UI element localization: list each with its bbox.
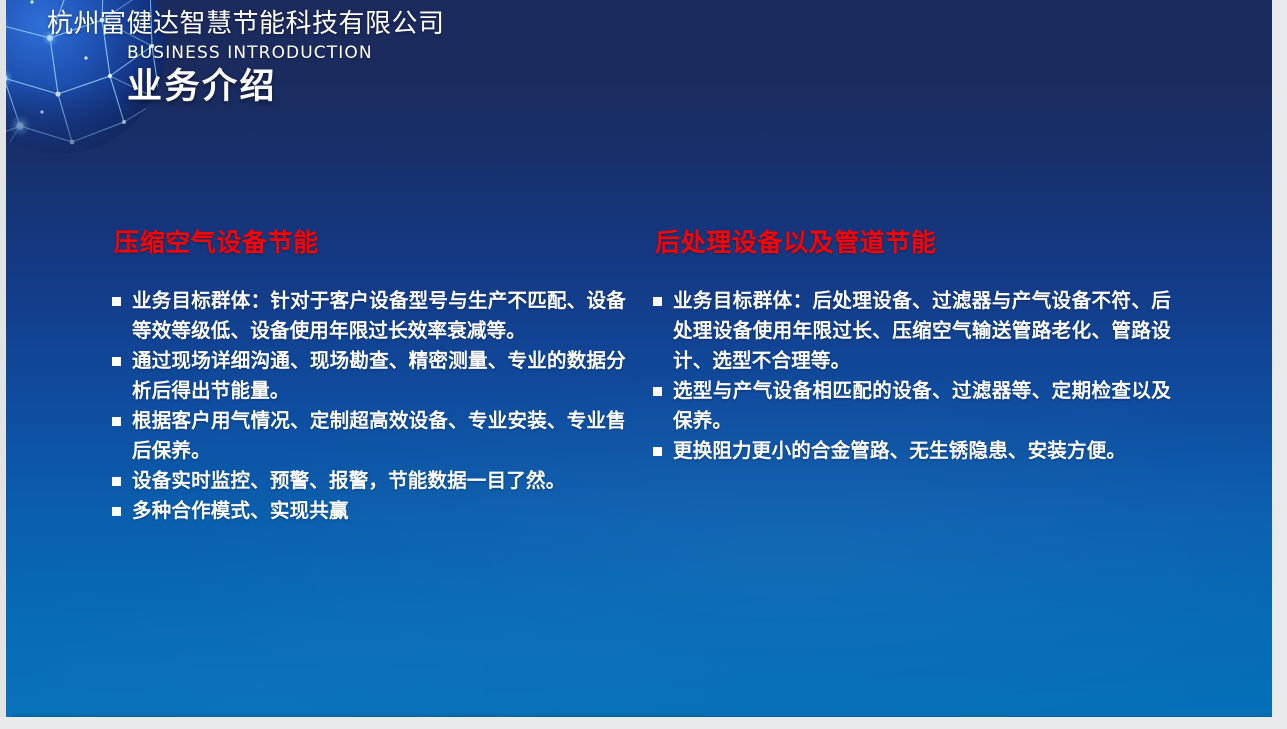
list-item: 通过现场详细沟通、现场勘查、精密测量、专业的数据分析后得出节能量。 (110, 346, 626, 406)
column-title: 压缩空气设备节能 (114, 226, 626, 260)
square-bullet-icon (112, 477, 121, 486)
section-label-group: BUSINESS INTRODUCTION 业务介绍 (127, 42, 445, 109)
list-item-text: 根据客户用气情况、定制超高效设备、专业安装、专业售后保养。 (132, 409, 626, 462)
list-item: 设备实时监控、预警、报警，节能数据一目了然。 (110, 466, 626, 496)
list-item-text: 选型与产气设备相匹配的设备、过滤器等、定期检查以及保养。 (673, 379, 1171, 432)
square-bullet-icon (653, 297, 662, 306)
list-item-text: 业务目标群体：针对于客户设备型号与生产不匹配、设备等效等级低、设备使用年限过长效… (132, 289, 626, 342)
section-label-en: BUSINESS INTRODUCTION (127, 42, 445, 64)
bullet-list: 业务目标群体：针对于客户设备型号与生产不匹配、设备等效等级低、设备使用年限过长效… (110, 286, 626, 526)
column-post-treatment: 后处理设备以及管道节能 业务目标群体：后处理设备、过滤器与产气设备不符、后处理设… (651, 226, 1171, 466)
square-bullet-icon (653, 447, 662, 456)
square-bullet-icon (112, 357, 121, 366)
list-item: 选型与产气设备相匹配的设备、过滤器等、定期检查以及保养。 (651, 376, 1171, 436)
list-item-text: 设备实时监控、预警、报警，节能数据一目了然。 (132, 469, 565, 492)
list-item: 更换阻力更小的合金管路、无生锈隐患、安装方便。 (651, 436, 1171, 466)
slide-canvas: 杭州富健达智慧节能科技有限公司 BUSINESS INTRODUCTION 业务… (6, 0, 1272, 717)
column-compressed-air: 压缩空气设备节能 业务目标群体：针对于客户设备型号与生产不匹配、设备等效等级低、… (110, 226, 626, 526)
square-bullet-icon (112, 297, 121, 306)
square-bullet-icon (112, 417, 121, 426)
list-item-text: 业务目标群体：后处理设备、过滤器与产气设备不符、后处理设备使用年限过长、压缩空气… (673, 289, 1171, 372)
page-margin-left (0, 0, 6, 729)
square-bullet-icon (653, 387, 662, 396)
company-name: 杭州富健达智慧节能科技有限公司 (47, 8, 445, 40)
list-item-text: 更换阻力更小的合金管路、无生锈隐患、安装方便。 (673, 439, 1126, 462)
list-item: 多种合作模式、实现共赢 (110, 496, 626, 526)
page-margin-bottom (0, 717, 1287, 729)
column-title: 后处理设备以及管道节能 (655, 226, 1171, 260)
bullet-list: 业务目标群体：后处理设备、过滤器与产气设备不符、后处理设备使用年限过长、压缩空气… (651, 286, 1171, 466)
list-item-text: 多种合作模式、实现共赢 (132, 499, 349, 522)
slide-root: 杭州富健达智慧节能科技有限公司 BUSINESS INTRODUCTION 业务… (0, 0, 1287, 729)
list-item-text: 通过现场详细沟通、现场勘查、精密测量、专业的数据分析后得出节能量。 (132, 349, 626, 402)
page-margin-right (1272, 0, 1287, 729)
list-item: 业务目标群体：后处理设备、过滤器与产气设备不符、后处理设备使用年限过长、压缩空气… (651, 286, 1171, 376)
section-label-cn: 业务介绍 (127, 65, 445, 109)
slide-header: 杭州富健达智慧节能科技有限公司 BUSINESS INTRODUCTION 业务… (6, 0, 1272, 132)
header-text-group: 杭州富健达智慧节能科技有限公司 BUSINESS INTRODUCTION 业务… (47, 8, 445, 109)
list-item: 根据客户用气情况、定制超高效设备、专业安装、专业售后保养。 (110, 406, 626, 466)
square-bullet-icon (112, 507, 121, 516)
list-item: 业务目标群体：针对于客户设备型号与生产不匹配、设备等效等级低、设备使用年限过长效… (110, 286, 626, 346)
